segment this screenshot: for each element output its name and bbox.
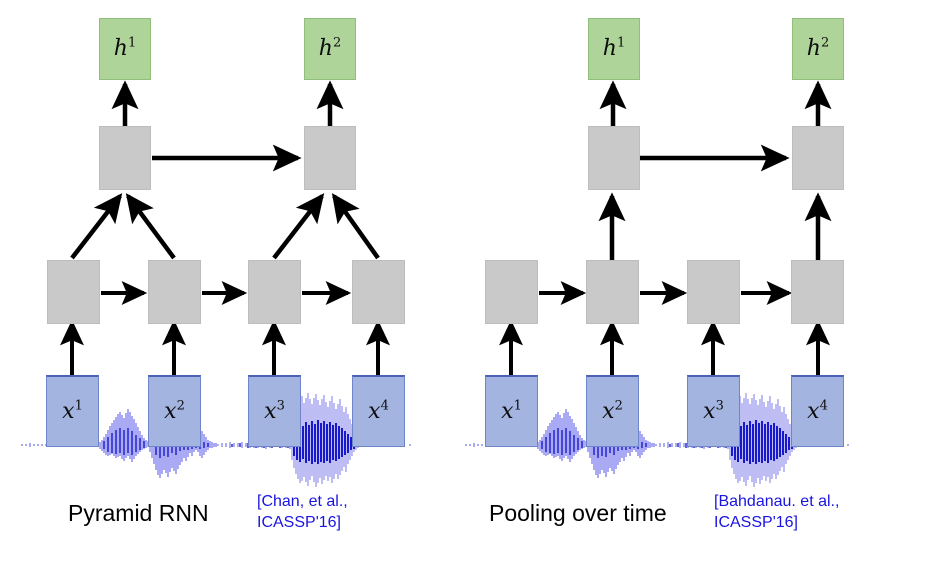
panel-citation-pooling-over-time: [Bahdanau. et al., ICASSP'16] bbox=[714, 491, 839, 533]
input-node-x2: x2 bbox=[148, 375, 201, 447]
output-node-h2: h2 bbox=[792, 18, 844, 80]
input-node-x4-label: x4 bbox=[807, 401, 828, 423]
hidden-bottom-node-1 bbox=[485, 260, 538, 324]
panel-citation-pyramid-rnn: [Chan, et al., ICASSP'16] bbox=[257, 491, 348, 533]
arrow-merge-1-to-top-1 bbox=[72, 196, 120, 258]
arrow-merge-4-to-top-2 bbox=[334, 196, 378, 258]
arrow-merge-2-to-top-1 bbox=[128, 196, 174, 258]
input-node-x3: x3 bbox=[248, 375, 301, 447]
output-node-h2: h2 bbox=[304, 18, 356, 80]
input-node-x2: x2 bbox=[586, 375, 639, 447]
input-node-x1: x1 bbox=[485, 375, 538, 447]
diagram-vector-layer bbox=[0, 0, 929, 572]
hidden-top-node-1 bbox=[99, 126, 151, 190]
hidden-bottom-node-2 bbox=[148, 260, 201, 324]
input-node-x3-label: x3 bbox=[703, 401, 724, 423]
input-node-x4-label: x4 bbox=[368, 401, 389, 423]
hidden-top-node-2 bbox=[304, 126, 356, 190]
hidden-bottom-node-4 bbox=[352, 260, 405, 324]
output-node-h1-label: h1 bbox=[114, 38, 136, 60]
output-node-h2-label: h2 bbox=[807, 38, 829, 60]
output-node-h1: h1 bbox=[99, 18, 151, 80]
input-node-x3: x3 bbox=[687, 375, 740, 447]
input-node-x1-label: x1 bbox=[501, 401, 522, 423]
arrow-merge-3-to-top-2 bbox=[274, 196, 322, 258]
input-node-x1-label: x1 bbox=[62, 401, 83, 423]
panel-caption-pyramid-rnn: Pyramid RNN bbox=[68, 500, 209, 527]
hidden-bottom-node-2 bbox=[586, 260, 639, 324]
hidden-top-node-1 bbox=[588, 126, 640, 190]
input-node-x2-label: x2 bbox=[602, 401, 623, 423]
input-node-x2-label: x2 bbox=[164, 401, 185, 423]
panel-caption-pooling-over-time: Pooling over time bbox=[489, 500, 667, 527]
arrows-pooling-over-time bbox=[511, 84, 818, 376]
hidden-bottom-node-4 bbox=[791, 260, 844, 324]
input-node-x3-label: x3 bbox=[264, 401, 285, 423]
output-node-h1: h1 bbox=[588, 18, 640, 80]
input-node-x4: x4 bbox=[791, 375, 844, 447]
hidden-top-node-2 bbox=[792, 126, 844, 190]
input-node-x4: x4 bbox=[352, 375, 405, 447]
hidden-bottom-node-3 bbox=[687, 260, 740, 324]
input-node-x1: x1 bbox=[46, 375, 99, 447]
figure-canvas: h1 h2 x1 x2 x3 x4 Pyramid RNN [Chan, et … bbox=[0, 0, 929, 572]
hidden-bottom-node-3 bbox=[248, 260, 301, 324]
output-node-h1-label: h1 bbox=[603, 38, 625, 60]
output-node-h2-label: h2 bbox=[319, 38, 341, 60]
hidden-bottom-node-1 bbox=[47, 260, 100, 324]
